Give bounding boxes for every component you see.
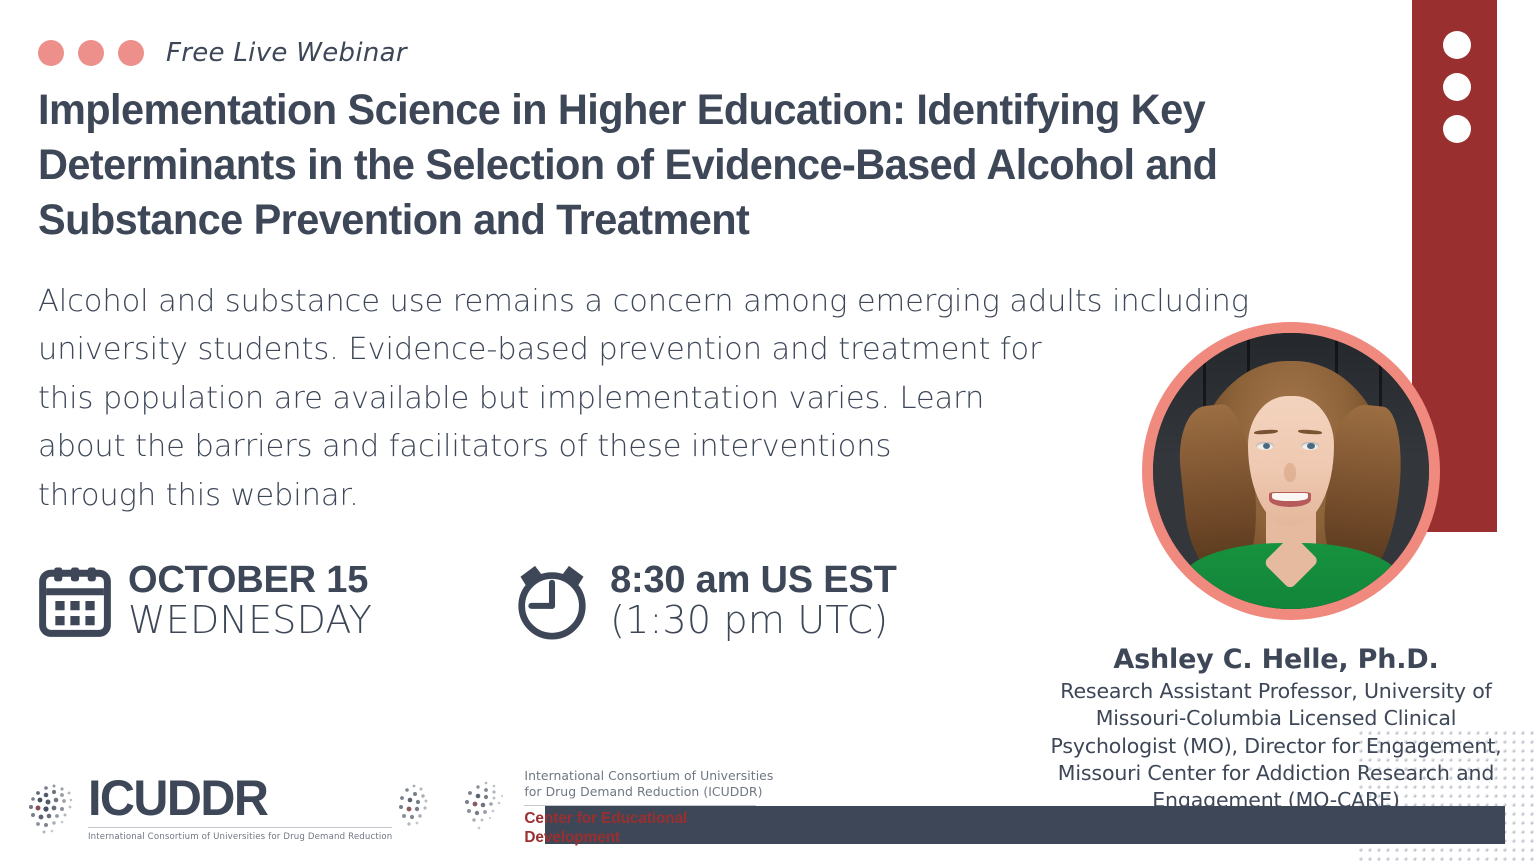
description-line: Alcohol and substance use remains a conc… — [38, 278, 1393, 326]
panel-dot-icon — [1443, 115, 1471, 143]
webinar-poster: Free Live Webinar Implementation Science… — [0, 0, 1536, 864]
event-time-secondary: (1:30 pm UTC) — [610, 600, 897, 642]
icuddr-text-block: ICUDDR International Consortium of Unive… — [88, 773, 392, 842]
eyebrow: Free Live Webinar — [38, 38, 407, 68]
description-line: about the barriers and facilitators of t… — [38, 423, 1393, 471]
ced-title-line2: Development — [524, 829, 773, 848]
event-time-primary: 8:30 am US EST — [610, 560, 897, 600]
coral-dot-icon — [118, 40, 144, 66]
speaker-name: Ashley C. Helle, Ph.D. — [1046, 644, 1506, 675]
description-line: university students. Evidence-based prev… — [38, 326, 1393, 374]
ced-text-block: International Consortium of Universities… — [524, 768, 773, 847]
icuddr-wordmark: ICUDDR — [88, 773, 383, 823]
icuddr-globe-right-icon — [394, 776, 436, 840]
speaker-info: Ashley C. Helle, Ph.D. Research Assistan… — [1046, 644, 1506, 814]
event-date: OCTOBER 15 WEDNESDAY — [38, 560, 372, 642]
coral-dot-icon — [78, 40, 104, 66]
speaker-bio: Research Assistant Professor, University… — [1046, 678, 1506, 814]
panel-dot-icon — [1443, 73, 1471, 101]
panel-dot-icon — [1443, 31, 1471, 59]
ced-title-line1: Center for Educational — [524, 810, 773, 829]
eyebrow-dots — [38, 40, 144, 66]
ced-logo: International Consortium of Universities… — [458, 768, 773, 847]
event-date-primary: OCTOBER 15 — [128, 560, 372, 600]
icuddr-tagline: International Consortium of Universities… — [88, 827, 392, 842]
ced-subtitle-line2: for Drug Demand Reduction (ICUDDR) — [524, 784, 773, 800]
event-date-text: OCTOBER 15 WEDNESDAY — [128, 560, 372, 642]
ced-divider — [524, 805, 756, 806]
coral-dot-icon — [38, 40, 64, 66]
ced-subtitle-line1: International Consortium of Universities — [524, 768, 773, 784]
page-title: Implementation Science in Higher Educati… — [38, 83, 1350, 248]
event-time: 8:30 am US EST (1:30 pm UTC) — [510, 560, 897, 642]
ced-globe-icon — [458, 775, 516, 841]
event-meta: OCTOBER 15 WEDNESDAY 8:30 am US EST (1:3… — [38, 560, 897, 642]
description-line: this population are available but implem… — [38, 375, 1393, 423]
description-line: through this webinar. — [38, 472, 1393, 520]
event-date-secondary: WEDNESDAY — [128, 600, 372, 642]
description: Alcohol and substance use remains a conc… — [38, 278, 1393, 520]
event-time-text: 8:30 am US EST (1:30 pm UTC) — [610, 560, 897, 642]
icuddr-globe-icon — [24, 772, 86, 844]
calendar-icon — [38, 564, 112, 638]
portrait-shirt — [1181, 543, 1402, 609]
logo-group: ICUDDR International Consortium of Unive… — [24, 768, 773, 847]
eyebrow-label: Free Live Webinar — [166, 38, 407, 68]
icuddr-logo: ICUDDR International Consortium of Unive… — [24, 772, 436, 844]
alarm-clock-icon — [510, 561, 594, 641]
